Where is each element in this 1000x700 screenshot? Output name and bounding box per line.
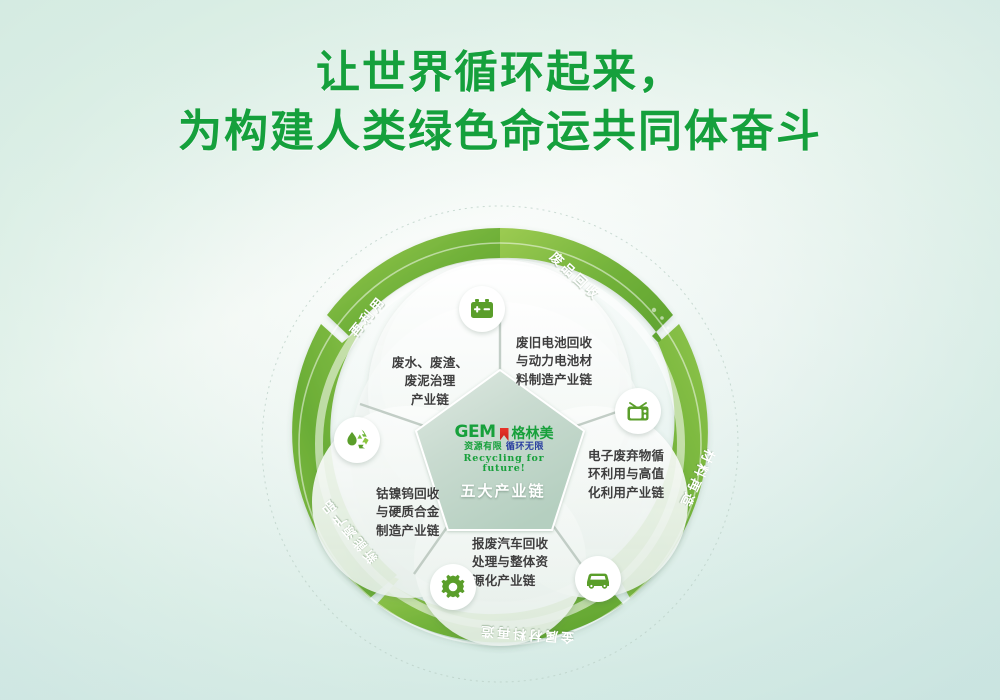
center-caption: 五大产业链 xyxy=(448,480,558,501)
battery-icon xyxy=(469,296,495,322)
badge-car[interactable] xyxy=(575,556,621,602)
segment-label-battery: 废旧电池回收 与动力电池材 料制造产业链 xyxy=(516,334,620,389)
badge-tv[interactable] xyxy=(615,388,661,434)
segment-label-auto: 报废汽车回收 处理与整体资 源化产业链 xyxy=(472,535,566,590)
page-title: 让世界循环起来， 为构建人类绿色命运共同体奋斗 xyxy=(0,44,1000,161)
page-title-line-2: 为构建人类绿色命运共同体奋斗 xyxy=(0,103,1000,162)
segment-label-ewaste: 电子废弃物循 环利用与高值 化利用产业链 xyxy=(588,447,680,502)
poster-canvas: 让世界循环起来， 为构建人类绿色命运共同体奋斗 xyxy=(0,0,1000,700)
logo-brand-cn: 格林美 xyxy=(512,427,554,441)
logo-brand-row: GEM 格林美 xyxy=(454,424,554,441)
badge-recycle-drop[interactable] xyxy=(334,417,380,463)
car-icon xyxy=(584,565,612,593)
logo-brand-latin: GEM xyxy=(455,424,496,441)
logo-slogan-cn: 资源有限 循环无限 xyxy=(454,443,554,452)
recycle-drop-icon xyxy=(343,426,371,454)
logo-red-chevron-icon xyxy=(500,428,509,441)
segment-label-water: 废水、废渣、 废泥治理 产业链 xyxy=(378,354,482,409)
gem-logo: GEM 格林美 资源有限 循环无限 Recycling for future! xyxy=(454,424,554,473)
logo-slogan-en: Recycling for future! xyxy=(454,454,554,473)
badge-battery[interactable] xyxy=(459,286,505,332)
logo-slogan-green: 资源有限 xyxy=(464,442,502,452)
page-title-line-1: 让世界循环起来， xyxy=(0,44,1000,103)
circular-industry-chain-diagram: 废品回收 再利用 新能源产品 金属材料再造 材料再造 废旧电池回收 与动力电池材… xyxy=(248,202,753,687)
gear-icon xyxy=(440,574,466,600)
badge-gear[interactable] xyxy=(430,564,476,610)
logo-slogan-blue: 循环无限 xyxy=(506,442,544,452)
tv-icon xyxy=(625,398,651,424)
